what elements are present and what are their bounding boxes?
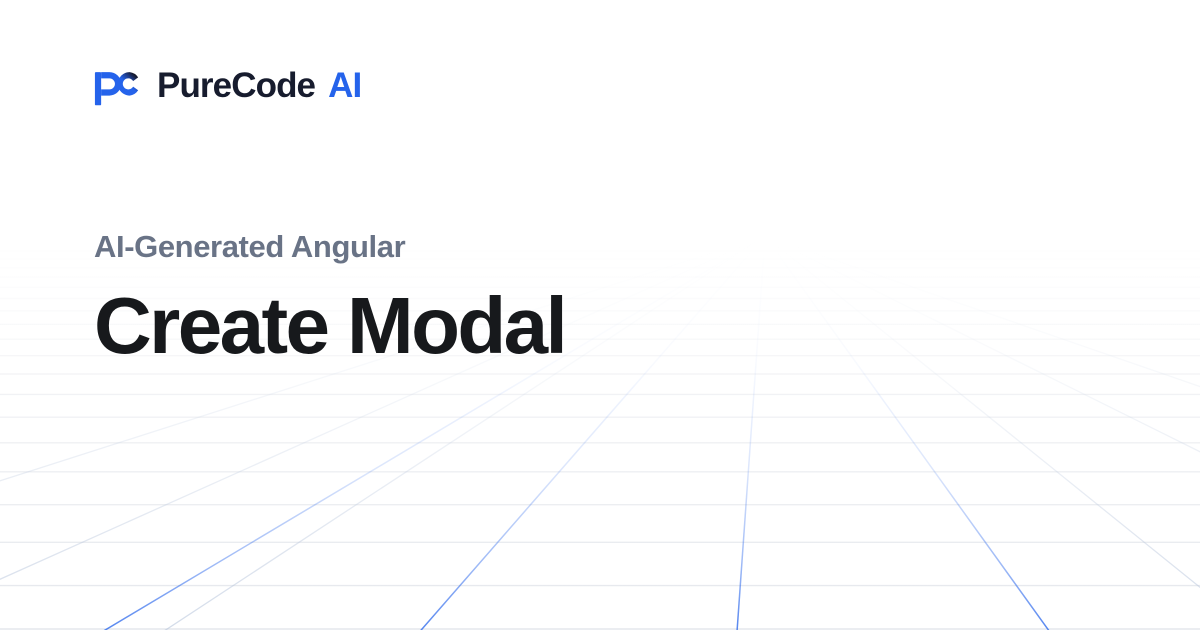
brand-suffix: AI xyxy=(328,68,361,103)
page-title: Create Modal xyxy=(94,286,565,366)
monogram-letter-p xyxy=(95,72,121,105)
og-card: PureCode AI AI-Generated Angular Create … xyxy=(0,0,1200,630)
brand-name: PureCode xyxy=(157,68,315,103)
brand-wordmark: PureCode AI xyxy=(157,68,361,103)
brand-lockup[interactable]: PureCode AI xyxy=(94,62,361,108)
monogram-letter-c xyxy=(118,72,138,95)
hero-eyebrow: AI-Generated Angular xyxy=(94,228,565,266)
hero-text-block: AI-Generated Angular Create Modal xyxy=(94,228,565,366)
purecode-pc-monogram-icon xyxy=(94,62,140,108)
